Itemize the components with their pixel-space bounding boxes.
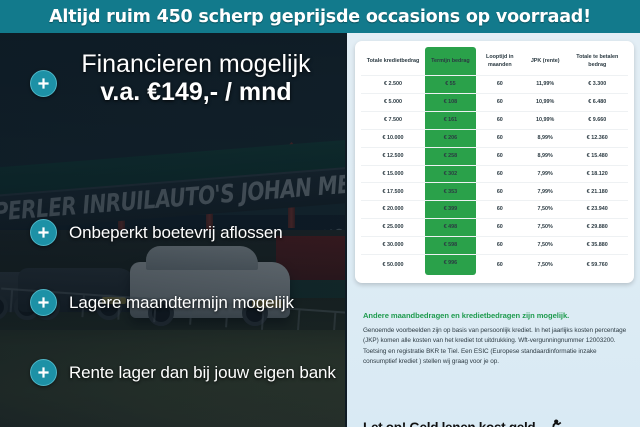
table-cell: € 108: [425, 94, 476, 112]
table-cell: 7,99%: [524, 183, 567, 201]
bullet-item-lagere-maandtermijn: Lagere maandtermijn mogelijk: [30, 289, 345, 316]
disclaimer-block: Andere maandbedragen en kredietbedragen …: [363, 311, 631, 368]
column-header-totale-kredietbedrag: Totale kredietbedrag: [361, 47, 425, 76]
table-cell: 8,99%: [524, 129, 567, 147]
table-cell: 10,99%: [524, 111, 567, 129]
credit-warning-text: Let op! Geld lenen kost geld: [363, 420, 535, 427]
table-row: € 5.000€ 1086010,99%€ 6.480: [361, 94, 628, 112]
table-cell: € 10.000: [361, 129, 425, 147]
table-cell: 7,50%: [524, 236, 567, 254]
table-row: € 15.000€ 302607,99%€ 18.120: [361, 165, 628, 183]
plus-icon: [30, 359, 57, 386]
table-cell: 7,50%: [524, 254, 567, 275]
table-cell: € 6.480: [567, 94, 628, 112]
table-cell: € 353: [425, 183, 476, 201]
disclaimer-body: Genoemde voorbeelden zijn op basis van p…: [363, 326, 631, 368]
column-header-termijn-bedrag: Termijn bedrag: [425, 47, 476, 76]
table-cell: € 15.000: [361, 165, 425, 183]
table-cell: € 35.880: [567, 236, 628, 254]
table-cell: € 29.880: [567, 219, 628, 237]
offer-column: Financieren mogelijk v.a. €149,- / mnd O…: [0, 33, 345, 427]
table-cell: 60: [476, 147, 524, 165]
rates-table-body: € 2.500€ 556011,99%€ 3.300€ 5.000€ 10860…: [361, 76, 628, 276]
table-row: € 10.000€ 206608,99%€ 12.360: [361, 129, 628, 147]
table-cell: € 2.500: [361, 76, 425, 94]
table-cell: 60: [476, 219, 524, 237]
table-row: € 17.500€ 353607,99%€ 21.180: [361, 183, 628, 201]
table-cell: 60: [476, 183, 524, 201]
rates-table: Totale kredietbedrag Termijn bedrag Loop…: [361, 47, 628, 275]
table-row: € 30.000€ 598607,50%€ 35.880: [361, 236, 628, 254]
table-cell: € 258: [425, 147, 476, 165]
bullet-item-rente-lager: Rente lager dan bij jouw eigen bank: [30, 359, 345, 386]
column-header-totale-te-betalen: Totale te betalen bedrag: [567, 47, 628, 76]
table-cell: € 17.500: [361, 183, 425, 201]
column-header-looptijd: Looptijd in maanden: [476, 47, 524, 76]
bullet-label: Lagere maandtermijn mogelijk: [69, 293, 294, 313]
bullet-item-financiering: [30, 70, 345, 97]
table-cell: 60: [476, 165, 524, 183]
table-cell: 7,50%: [524, 201, 567, 219]
table-cell: € 7.500: [361, 111, 425, 129]
plus-icon: [30, 70, 57, 97]
table-cell: € 59.760: [567, 254, 628, 275]
table-cell: € 12.360: [567, 129, 628, 147]
table-header-row: Totale kredietbedrag Termijn bedrag Loop…: [361, 47, 628, 76]
table-cell: € 55: [425, 76, 476, 94]
table-row: € 12.500€ 258608,99%€ 15.480: [361, 147, 628, 165]
afm-running-man-logo: [540, 419, 562, 427]
table-cell: 60: [476, 94, 524, 112]
table-cell: 8,99%: [524, 147, 567, 165]
bullet-label: Onbeperkt boetevrij aflossen: [69, 223, 283, 243]
table-cell: € 302: [425, 165, 476, 183]
table-cell: 60: [476, 76, 524, 94]
bullet-label: Rente lager dan bij jouw eigen bank: [69, 363, 336, 383]
rates-panel: Totale kredietbedrag Termijn bedrag Loop…: [345, 33, 640, 427]
table-cell: 7,50%: [524, 219, 567, 237]
top-banner-text: Altijd ruim 450 scherp geprijsde occasio…: [49, 7, 591, 27]
table-cell: € 18.120: [567, 165, 628, 183]
table-cell: € 50.000: [361, 254, 425, 275]
table-cell: € 498: [425, 219, 476, 237]
table-cell: € 9.660: [567, 111, 628, 129]
plus-icon: [30, 219, 57, 246]
table-cell: 60: [476, 201, 524, 219]
promo-banner-image: PERLER INRUILAUTO'S JOHAN MEURE ALTIJD 4…: [0, 0, 640, 427]
table-cell: € 161: [425, 111, 476, 129]
table-row: € 25.000€ 498607,50%€ 29.880: [361, 219, 628, 237]
table-cell: € 12.500: [361, 147, 425, 165]
table-cell: 10,99%: [524, 94, 567, 112]
table-cell: € 30.000: [361, 236, 425, 254]
table-cell: € 3.300: [567, 76, 628, 94]
table-row: € 50.000€ 996607,50%€ 59.760: [361, 254, 628, 275]
table-row: € 2.500€ 556011,99%€ 3.300: [361, 76, 628, 94]
table-cell: 60: [476, 254, 524, 275]
table-cell: € 21.180: [567, 183, 628, 201]
table-cell: € 20.000: [361, 201, 425, 219]
table-row: € 20.000€ 399607,50%€ 23.940: [361, 201, 628, 219]
disclaimer-title: Andere maandbedragen en kredietbedragen …: [363, 311, 631, 320]
table-cell: 60: [476, 111, 524, 129]
table-cell: € 598: [425, 236, 476, 254]
table-cell: € 206: [425, 129, 476, 147]
table-cell: 60: [476, 129, 524, 147]
plus-icon: [30, 289, 57, 316]
table-cell: 11,99%: [524, 76, 567, 94]
column-header-jpk: JPK (rente): [524, 47, 567, 76]
credit-warning: Let op! Geld lenen kost geld: [363, 419, 562, 427]
table-cell: € 996: [425, 254, 476, 275]
table-cell: € 25.000: [361, 219, 425, 237]
bullet-item-boetevrij-aflossen: Onbeperkt boetevrij aflossen: [30, 219, 345, 246]
table-cell: € 399: [425, 201, 476, 219]
table-cell: € 23.940: [567, 201, 628, 219]
table-cell: € 5.000: [361, 94, 425, 112]
table-cell: € 15.480: [567, 147, 628, 165]
table-cell: 60: [476, 236, 524, 254]
top-banner: Altijd ruim 450 scherp geprijsde occasio…: [0, 0, 640, 33]
table-cell: 7,99%: [524, 165, 567, 183]
rates-card: Totale kredietbedrag Termijn bedrag Loop…: [355, 41, 634, 283]
table-row: € 7.500€ 1616010,99%€ 9.660: [361, 111, 628, 129]
